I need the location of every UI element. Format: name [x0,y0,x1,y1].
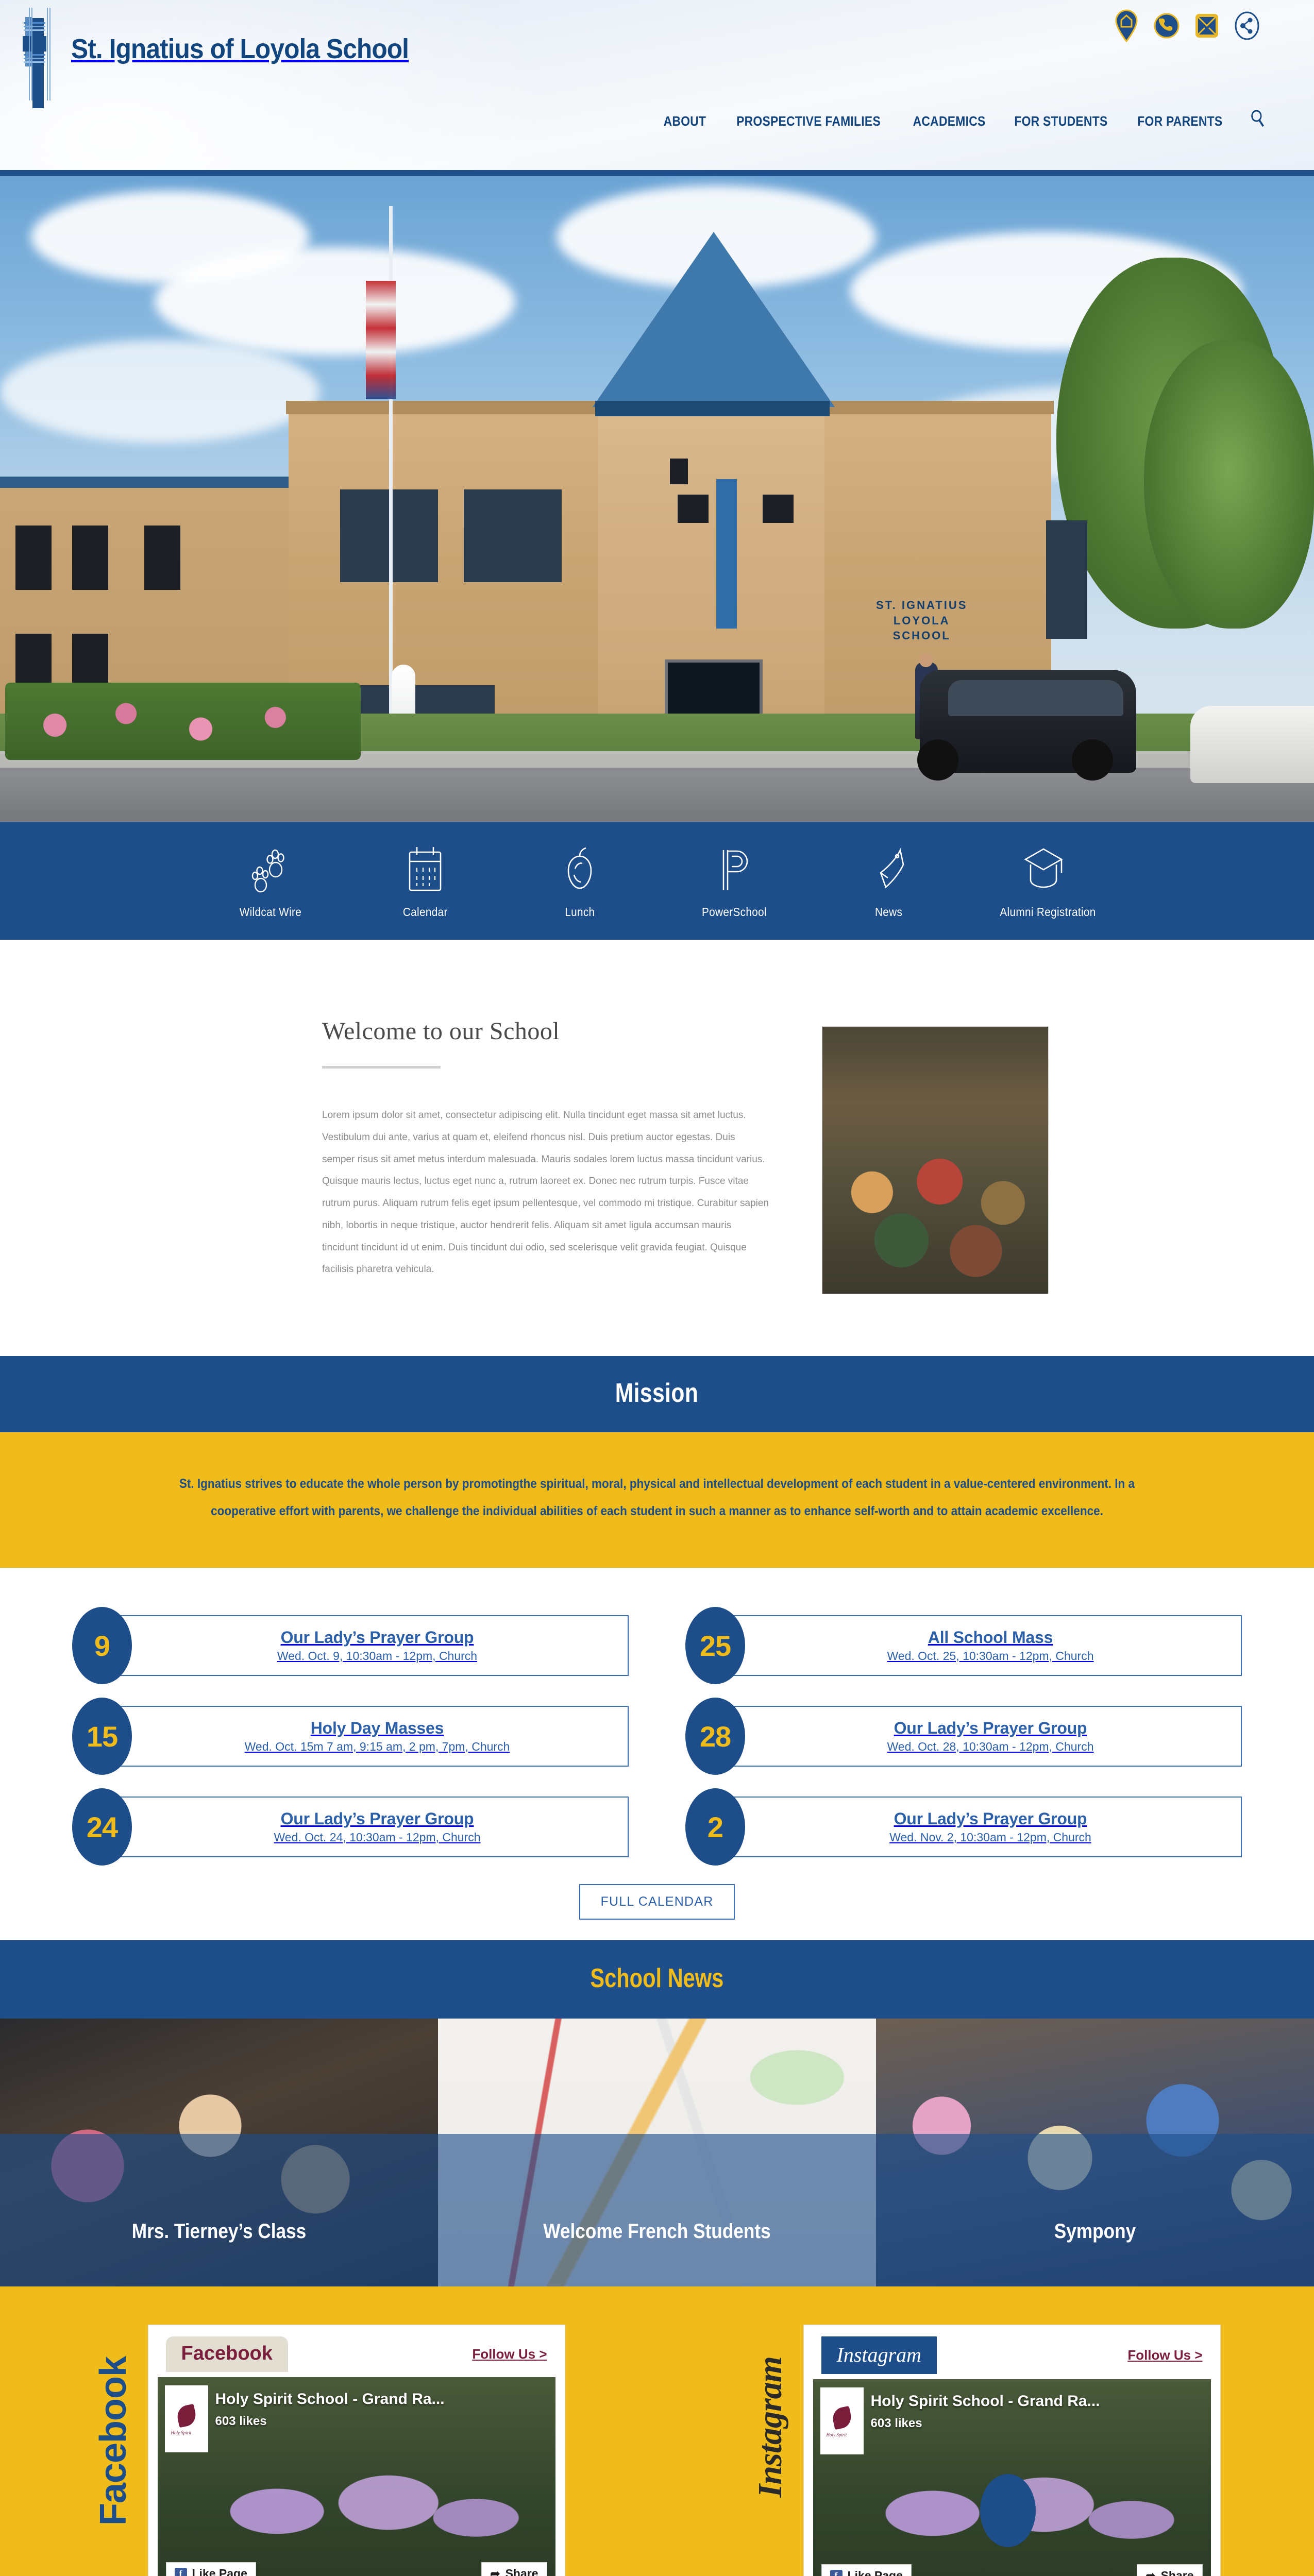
instagram-cover-image: Holy Spirit Holy Spirit School - Grand R… [813,2379,1211,2576]
event-title: Our Lady’s Prayer Group [894,1719,1087,1737]
event-meta: Wed. Oct. 28, 10:30am - 12pm, Church [887,1740,1094,1753]
megaphone-icon [840,841,938,898]
nav-item-prospective-families[interactable]: PROSPECTIVE FAMILIES [736,113,881,129]
event-title: Our Lady’s Prayer Group [281,1810,474,1828]
share-button[interactable]: ➦ Share [1137,2564,1202,2576]
mission-section: Mission St. Ignatius strives to educate … [0,1356,1314,1568]
building-sign: ST. IGNATIUSLOYOLASCHOOL [876,598,967,643]
event-meta: Wed. Nov. 2, 10:30am - 12pm, Church [889,1831,1091,1844]
news-card[interactable]: Mrs. Tierney’s Class [0,2019,438,2286]
news-card-title: Mrs. Tierney’s Class [26,2220,412,2243]
welcome-painting-image [822,1026,1049,1294]
news-card-overlay [0,2134,438,2286]
quicklink-alumni-registration[interactable]: Alumni Registration [995,841,1092,919]
event-day-badge: 2 [685,1788,745,1866]
event-meta: Wed. Oct. 15m 7 am, 9:15 am, 2 pm, 7pm, … [245,1740,510,1753]
site-logo-link[interactable]: St. Ignatius of Loyola School [15,0,438,116]
instagram-vertical-label: Instagram [751,2357,790,2497]
quicklink-calendar[interactable]: Calendar [376,841,474,919]
event-item[interactable]: 24 Our Lady’s Prayer Group Wed. Oct. 24,… [72,1797,629,1857]
nav-item-for-students[interactable]: FOR STUDENTS [1015,113,1108,129]
quicklink-label: News [875,905,902,919]
facebook-icon: f [830,2570,843,2576]
instagram-follow-link[interactable]: Follow Us > [1127,2347,1202,2363]
news-card-overlay [876,2134,1314,2286]
event-title: Our Lady’s Prayer Group [281,1629,474,1647]
event-meta: Wed. Oct. 24, 10:30am - 12pm, Church [274,1831,481,1844]
event-item[interactable]: 15 Holy Day Masses Wed. Oct. 15m 7 am, 9… [72,1706,629,1767]
paw-prints-icon [222,841,319,898]
facebook-widget[interactable]: Facebook Follow Us > Holy Spirit Holy Sp… [148,2325,565,2576]
quicklink-label: Lunch [565,905,595,919]
quicklinks-bar: Wildcat Wire Calendar [0,822,1314,940]
quicklink-wildcat-wire[interactable]: Wildcat Wire [222,841,319,919]
welcome-title: Welcome to our School [322,1017,770,1045]
page-avatar: Holy Spirit [165,2385,208,2452]
event-item[interactable]: 2 Our Lady’s Prayer Group Wed. Nov. 2, 1… [685,1797,1242,1857]
header-utility-icons [1113,7,1260,44]
decorative-blue-oval [980,2474,1036,2547]
event-item[interactable]: 25 All School Mass Wed. Oct. 25, 10:30am… [685,1615,1242,1676]
nav-item-academics[interactable]: ACADEMICS [913,113,986,129]
news-card[interactable]: Welcome French Students [438,2019,876,2286]
quicklink-label: Alumni Registration [1000,905,1096,919]
facebook-icon: f [175,2568,187,2576]
like-page-label: Like Page [192,2567,247,2576]
event-day-badge: 25 [685,1607,745,1684]
like-page-label: Like Page [848,2569,903,2576]
school-news-section: School News Mrs. Tierney’s Class Welcome… [0,1940,1314,2286]
phone-icon[interactable] [1153,7,1180,44]
event-day-badge: 28 [685,1698,745,1775]
quicklink-label: Wildcat Wire [240,905,301,919]
graduation-cap-icon [995,841,1092,898]
quicklink-news[interactable]: News [840,841,938,919]
facebook-column: Facebook Facebook Follow Us > Holy Spiri… [0,2325,657,2576]
instagram-like-count: 603 likes [871,2416,922,2431]
cross-logo-icon [15,0,63,116]
welcome-body: Lorem ipsum dolor sit amet, consectetur … [322,1105,770,1281]
share-arrow-icon: ➦ [490,2567,500,2576]
powerschool-p-icon [685,841,783,898]
quicklink-powerschool[interactable]: PowerSchool [685,841,783,919]
instagram-widget[interactable]: Instagram Follow Us > Holy Spirit Holy S… [803,2325,1221,2576]
facebook-page-name: Holy Spirit School - Grand Ra... [215,2391,445,2408]
share-label: Share [1161,2569,1194,2576]
nav-item-about[interactable]: ABOUT [664,113,706,129]
full-calendar-button[interactable]: FULL CALENDAR [579,1884,735,1920]
mission-text: St. Ignatius strives to educate the whol… [151,1470,1163,1524]
nav-item-for-parents[interactable]: FOR PARENTS [1138,113,1223,129]
facebook-tab-label: Facebook [166,2336,288,2372]
title-divider [322,1066,441,1069]
page-avatar: Holy Spirit [820,2387,864,2454]
event-title: Our Lady’s Prayer Group [894,1810,1087,1828]
quicklink-label: PowerSchool [702,905,767,919]
mission-heading: Mission [615,1378,699,1409]
calendar-icon [376,841,474,898]
event-item[interactable]: 28 Our Lady’s Prayer Group Wed. Oct. 28,… [685,1706,1242,1767]
event-day-badge: 9 [72,1607,132,1684]
welcome-section: Welcome to our School Lorem ipsum dolor … [0,940,1314,1356]
like-page-button[interactable]: f Like Page [821,2564,912,2576]
news-card-overlay [438,2134,876,2286]
share-arrow-icon: ➦ [1145,2569,1155,2576]
school-name: St. Ignatius of Loyola School [71,33,409,65]
instagram-tab-label: Instagram [821,2336,937,2374]
event-meta: Wed. Oct. 9, 10:30am - 12pm, Church [277,1650,477,1663]
search-icon[interactable] [1250,109,1266,133]
envelope-icon[interactable] [1193,7,1220,44]
share-button[interactable]: ➦ Share [481,2562,547,2576]
share-label: Share [506,2567,538,2576]
facebook-follow-link[interactable]: Follow Us > [472,2346,547,2362]
event-title: All School Mass [928,1629,1053,1647]
facebook-vertical-label: Facebook [92,2357,134,2526]
like-page-button[interactable]: f Like Page [166,2562,256,2576]
event-title: Holy Day Masses [311,1719,444,1737]
quicklink-label: Calendar [403,905,448,919]
news-card-title: Welcome French Students [464,2220,850,2243]
social-section: Facebook Facebook Follow Us > Holy Spiri… [0,2286,1314,2576]
event-item[interactable]: 9 Our Lady’s Prayer Group Wed. Oct. 9, 1… [72,1615,629,1676]
instagram-page-name: Holy Spirit School - Grand Ra... [871,2393,1100,2410]
hero-image: ST. IGNATIUSLOYOLASCHOOL [0,170,1314,822]
facebook-like-count: 603 likes [215,2414,267,2429]
news-card[interactable]: Sympony [876,2019,1314,2286]
school-news-heading: School News [591,1963,724,1994]
share-icon[interactable] [1234,7,1260,44]
news-card-title: Sympony [902,2220,1288,2243]
facebook-cover-image: Holy Spirit Holy Spirit School - Grand R… [158,2377,555,2576]
event-day-badge: 15 [72,1698,132,1775]
event-meta: Wed. Oct. 25, 10:30am - 12pm, Church [887,1650,1094,1663]
instagram-column: Instagram Instagram Follow Us > Holy Spi… [657,2325,1314,2576]
location-pin-icon[interactable] [1113,7,1140,44]
quicklink-lunch[interactable]: Lunch [531,841,629,919]
site-header: St. Ignatius of Loyola School ABOUT PROS… [0,0,1314,170]
main-navigation: ABOUT PROSPECTIVE FAMILIES ACADEMICS FOR… [0,109,1314,133]
event-day-badge: 24 [72,1788,132,1866]
events-section: 9 Our Lady’s Prayer Group Wed. Oct. 9, 1… [0,1568,1314,1940]
apple-icon [531,841,629,898]
